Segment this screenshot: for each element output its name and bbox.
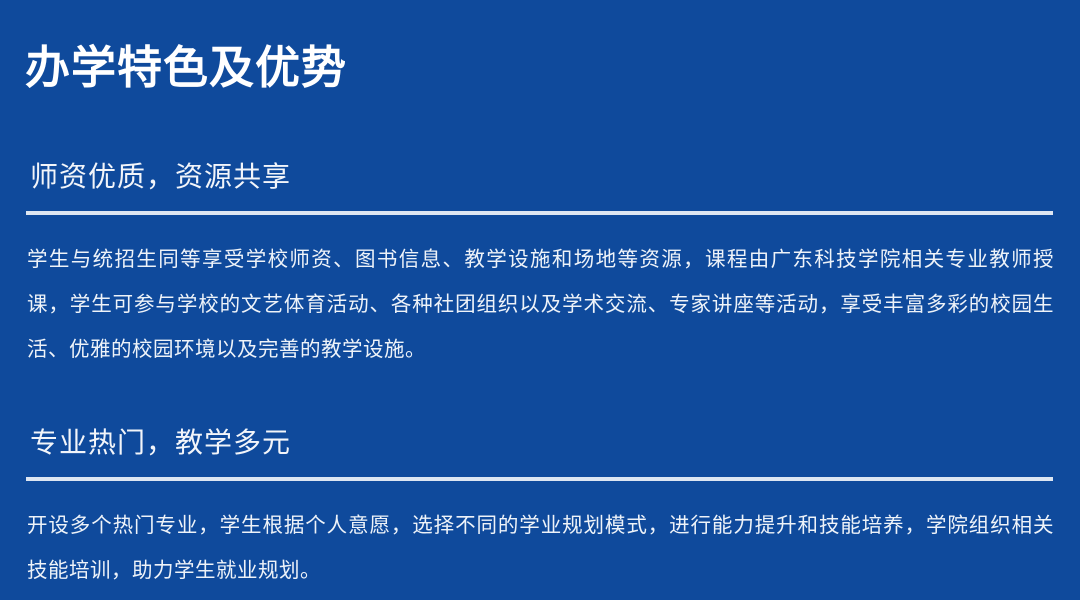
section-teaching-resources: 师资优质，资源共享 学生与统招生同等享受学校师资、图书信息、教学设施和场地等资源…: [0, 155, 1080, 372]
section-majors-teaching: 专业热门，教学多元 开设多个热门专业，学生根据个人意愿，选择不同的学业规划模式，…: [0, 421, 1080, 593]
slide-root: 办学特色及优势 师资优质，资源共享 学生与统招生同等享受学校师资、图书信息、教学…: [0, 0, 1080, 600]
section-heading: 师资优质，资源共享: [0, 155, 1080, 199]
section-divider: [26, 211, 1053, 215]
section-heading: 专业热门，教学多元: [0, 421, 1080, 465]
section-divider: [26, 477, 1053, 481]
section-body-text: 学生与统招生同等享受学校师资、图书信息、教学设施和场地等资源，课程由广东科技学院…: [0, 237, 1080, 372]
page-title: 办学特色及优势: [25, 38, 347, 98]
section-body-text: 开设多个热门专业，学生根据个人意愿，选择不同的学业规划模式，进行能力提升和技能培…: [0, 503, 1080, 593]
